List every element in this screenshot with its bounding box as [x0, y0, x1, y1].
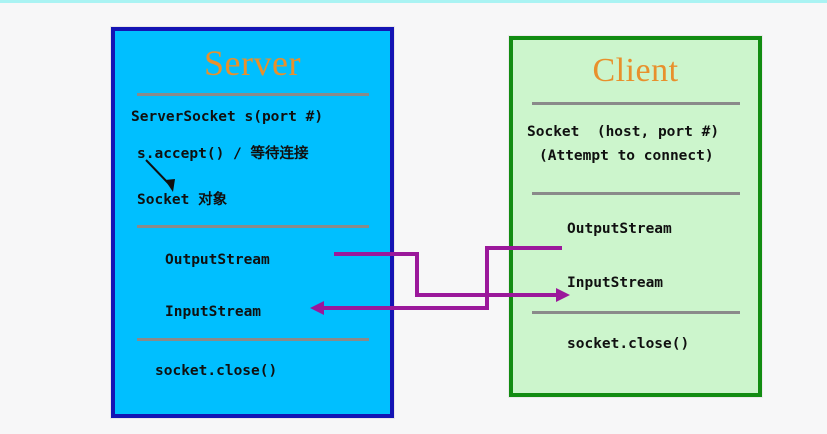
server-input-stream-label: InputStream: [115, 304, 390, 320]
server-setup-section: ServerSocket s(port #) s.accept() / 等待连接…: [115, 109, 390, 209]
server-title: Server: [115, 45, 390, 81]
server-divider-bottom: [137, 338, 369, 341]
client-output-stream-label: OutputStream: [513, 221, 758, 237]
client-title: Client: [513, 54, 758, 88]
server-socket-object-line: Socket 对象: [115, 188, 390, 209]
client-close-line: socket.close(): [513, 336, 758, 352]
client-connect-section: Socket (host, port #) (Attempt to connec…: [513, 124, 758, 164]
client-input-stream-label: InputStream: [513, 275, 758, 291]
server-divider-middle: [137, 225, 369, 228]
client-divider-top: [532, 102, 740, 105]
client-socket-line: Socket (host, port #): [513, 124, 758, 140]
client-box: Client Socket (host, port #) (Attempt to…: [509, 36, 762, 397]
client-divider-bottom: [532, 311, 740, 314]
server-close-line: socket.close(): [115, 363, 390, 379]
server-box: Server ServerSocket s(port #) s.accept()…: [111, 27, 394, 418]
server-output-stream-label: OutputStream: [115, 252, 390, 268]
server-streams-section: OutputStream InputStream: [115, 252, 390, 320]
client-attempt-line: (Attempt to connect): [513, 148, 758, 164]
server-serversocket-line: ServerSocket s(port #): [115, 109, 390, 125]
top-rule-decoration: [0, 0, 827, 3]
client-divider-middle: [532, 192, 740, 195]
server-divider-top: [137, 93, 369, 96]
server-accept-line: s.accept() / 等待连接: [115, 142, 390, 163]
client-streams-section: OutputStream InputStream: [513, 221, 758, 291]
diagram-canvas: Server ServerSocket s(port #) s.accept()…: [0, 0, 827, 434]
